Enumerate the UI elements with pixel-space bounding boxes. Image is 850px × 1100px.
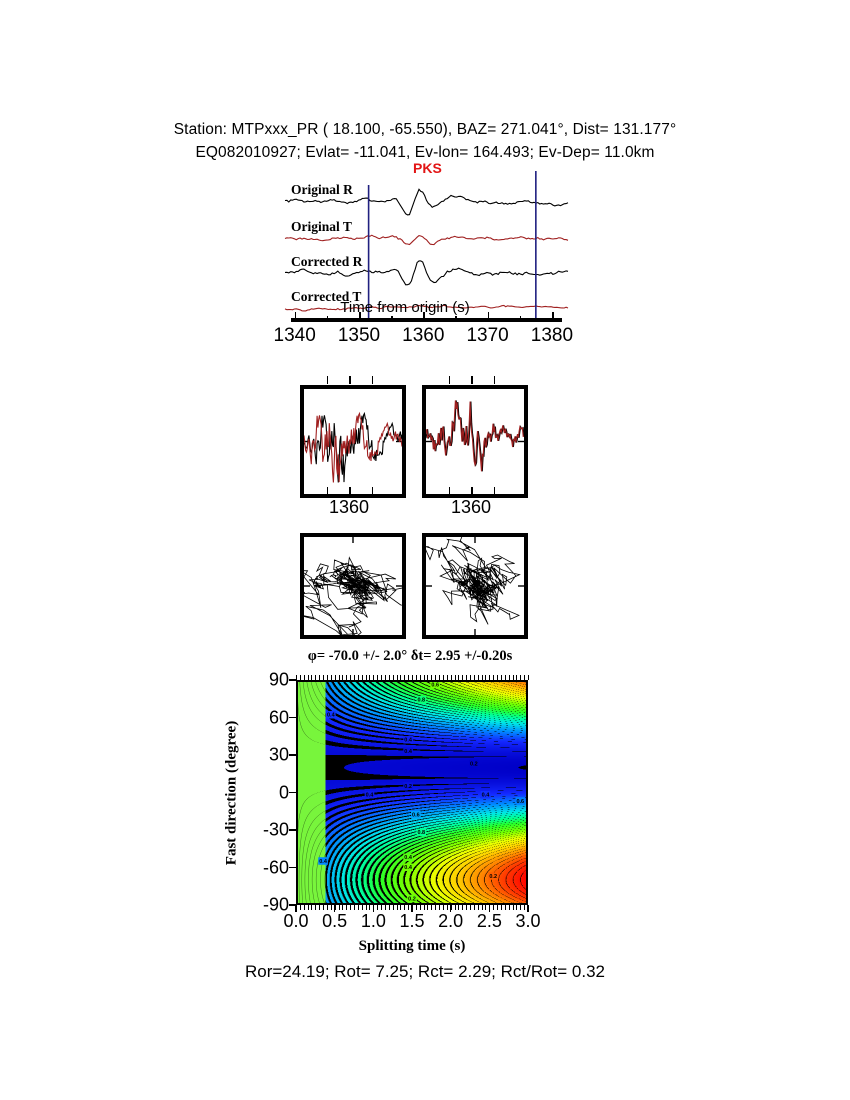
contour-minor-tick [420,675,421,680]
contour-ytick-label: 60 [269,707,289,728]
contour-ytick-label: 0 [279,782,289,803]
contour-minor-tick [501,905,502,910]
time-axis-tick [295,312,297,322]
contour-minor-tick [339,905,340,910]
contour-minor-tick [311,675,312,680]
contour-minor-tick [416,675,417,680]
contour-minor-tick [505,905,506,910]
contour-minor-tick [358,675,359,680]
time-axis-bar [291,318,562,322]
time-axis-title: Time from origin (s) [240,299,570,316]
contour-xtick-label: 2.5 [477,911,502,932]
contour-minor-tick [354,905,355,910]
contour-minor-tick [451,905,452,910]
contour-minor-tick [478,675,479,680]
box-tick [471,376,473,384]
contour-minor-tick [362,675,363,680]
contour-minor-tick [431,905,432,910]
contour-minor-tick [485,905,486,910]
box-tick [494,376,496,384]
station-info-line: Station: MTPxxx_PR ( 18.100, -65.550), B… [0,118,850,141]
contour-minor-tick [520,905,521,910]
contour-minor-tick [397,675,398,680]
contour-minor-tick [404,905,405,910]
contour-ytick [289,754,296,756]
contour-minor-tick [458,905,459,910]
contour-minor-tick [424,905,425,910]
contour-minor-tick [358,905,359,910]
fast-slow-trace-pair-right [426,389,524,494]
contour-minor-tick [397,905,398,910]
contour-minor-tick [412,675,413,680]
contour-minor-tick [327,905,328,910]
contour-xtick-label: 2.0 [438,911,463,932]
contour-ytick-label: -30 [263,820,289,841]
contour-minor-tick [435,675,436,680]
contour-minor-tick [482,905,483,910]
box-tick [449,376,451,384]
contour-minor-tick [462,675,463,680]
contour-minor-tick [366,905,367,910]
contour-minor-tick [493,905,494,910]
time-axis-tick [455,316,457,322]
contour-minor-tick [296,675,297,680]
particle-motion-box-before [300,533,406,639]
box-tick [494,487,496,495]
contour-minor-tick [482,675,483,680]
figure-header: Station: MTPxxx_PR ( 18.100, -65.550), B… [0,118,850,164]
contour-minor-tick [516,675,517,680]
contour-minor-tick [331,905,332,910]
quality-stats-line: Ror=24.19; Rot= 7.25; Rct= 2.29; Rct/Rot… [0,962,850,982]
particle-motion-path [304,558,402,635]
contour-minor-tick [451,675,452,680]
contour-minor-tick [497,905,498,910]
contour-minor-tick [489,905,490,910]
contour-minor-tick [513,905,514,910]
energy-contour-plot: -90-60-3003060900.00.51.01.52.02.53.0 [296,680,528,905]
time-axis-tick [488,312,490,322]
contour-minor-tick [435,905,436,910]
contour-canvas [296,680,528,905]
time-axis-tick [359,312,361,322]
contour-minor-tick [389,905,390,910]
contour-minor-tick [350,675,351,680]
contour-minor-tick [354,675,355,680]
contour-minor-tick [466,675,467,680]
contour-minor-tick [478,905,479,910]
contour-minor-tick [400,675,401,680]
contour-minor-tick [308,905,309,910]
time-axis-tick [327,316,329,322]
contour-xtick-label: 1.0 [361,911,386,932]
contour-minor-tick [427,675,428,680]
contour-minor-tick [377,675,378,680]
contour-yaxis-title: Fast direction (degree) [224,721,241,865]
contour-minor-tick [323,675,324,680]
contour-minor-tick [524,905,525,910]
contour-minor-tick [335,675,336,680]
contour-ytick [289,792,296,794]
contour-minor-tick [304,675,305,680]
contour-ytick-label: 90 [269,670,289,691]
waveform-box-caption-left: 1360 [294,497,404,518]
contour-minor-tick [470,905,471,910]
contour-minor-tick [447,675,448,680]
contour-minor-tick [505,675,506,680]
box-tick [349,487,351,495]
contour-minor-tick [455,675,456,680]
contour-ytick [289,679,296,681]
contour-minor-tick [323,905,324,910]
contour-minor-tick [342,675,343,680]
contour-minor-tick [497,675,498,680]
contour-minor-tick [369,675,370,680]
contour-minor-tick [315,905,316,910]
contour-minor-tick [513,675,514,680]
contour-minor-tick [381,905,382,910]
contour-minor-tick [524,675,525,680]
trace-label: Original T [291,219,352,234]
contour-minor-tick [474,675,475,680]
box-tick [372,376,374,384]
contour-minor-tick [393,675,394,680]
time-axis-tick [423,312,425,322]
box-tick [327,487,329,495]
time-axis-tick [520,316,522,322]
time-tick-label: 1350 [338,325,380,347]
contour-ytick [289,829,296,831]
contour-minor-tick [385,905,386,910]
contour-xtick-label: 0.5 [322,911,347,932]
time-axis-tick [552,312,554,322]
contour-minor-tick [319,905,320,910]
particle-motion-path [426,537,520,624]
contour-minor-tick [300,675,301,680]
time-tick-label: 1370 [466,325,508,347]
contour-minor-tick [366,675,367,680]
contour-minor-tick [400,905,401,910]
contour-xaxis-title: Splitting time (s) [296,938,528,955]
contour-minor-tick [447,905,448,910]
contour-minor-tick [493,675,494,680]
contour-minor-tick [296,905,297,910]
box-tick [349,376,351,384]
particle-motion-curve-before [304,537,402,635]
contour-minor-tick [424,675,425,680]
contour-ytick [289,717,296,719]
contour-minor-tick [331,675,332,680]
time-tick-label: 1360 [402,325,444,347]
contour-minor-tick [509,905,510,910]
contour-minor-tick [420,905,421,910]
contour-xtick-label: 3.0 [515,911,540,932]
waveform-box-caption-right: 1360 [416,497,526,518]
contour-minor-tick [443,905,444,910]
contour-minor-tick [373,675,374,680]
contour-xtick-label: 0.0 [283,911,308,932]
contour-minor-tick [308,675,309,680]
contour-minor-tick [393,905,394,910]
contour-xtick-label: 1.5 [399,911,424,932]
contour-minor-tick [427,905,428,910]
box-tick [372,487,374,495]
contour-minor-tick [501,675,502,680]
contour-minor-tick [466,905,467,910]
contour-minor-tick [350,905,351,910]
contour-ytick-label: 30 [269,745,289,766]
contour-minor-tick [528,905,529,910]
contour-minor-tick [516,905,517,910]
contour-minor-tick [389,675,390,680]
fast-slow-trace-pair-left [304,389,402,494]
time-tick-label: 1340 [274,325,316,347]
contour-minor-tick [373,905,374,910]
fast-slow-waveform-box-right [422,385,528,498]
particle-motion-curve-after [426,537,524,635]
contour-plot-title: φ= -70.0 +/- 2.0° δt= 2.95 +/-0.20s [230,648,590,665]
contour-minor-tick [431,675,432,680]
box-tick [327,376,329,384]
contour-minor-tick [311,905,312,910]
contour-minor-tick [404,675,405,680]
contour-minor-tick [439,905,440,910]
contour-minor-tick [327,675,328,680]
contour-minor-tick [346,905,347,910]
contour-minor-tick [520,675,521,680]
contour-minor-tick [528,675,529,680]
time-axis-tick [391,316,393,322]
contour-minor-tick [485,675,486,680]
contour-minor-tick [304,905,305,910]
contour-minor-tick [458,675,459,680]
contour-minor-tick [489,675,490,680]
contour-ytick-label: -60 [263,857,289,878]
contour-minor-tick [509,675,510,680]
trace-label: Original R [291,182,353,197]
contour-minor-tick [416,905,417,910]
contour-minor-tick [300,905,301,910]
trace-label: Corrected R [291,254,363,269]
contour-minor-tick [319,675,320,680]
contour-minor-tick [362,905,363,910]
contour-minor-tick [408,675,409,680]
time-tick-label: 1380 [531,325,573,347]
fast-slow-waveform-box-left [300,385,406,498]
contour-minor-tick [346,675,347,680]
contour-minor-tick [385,675,386,680]
contour-minor-tick [412,905,413,910]
box-tick [471,487,473,495]
contour-minor-tick [339,675,340,680]
contour-minor-tick [455,905,456,910]
contour-minor-tick [470,675,471,680]
pks-phase-label: PKS [413,160,442,176]
contour-minor-tick [443,675,444,680]
contour-ytick [289,867,296,869]
contour-minor-tick [439,675,440,680]
contour-minor-tick [369,905,370,910]
contour-minor-tick [381,675,382,680]
box-tick [449,487,451,495]
contour-minor-tick [315,675,316,680]
contour-minor-tick [342,905,343,910]
contour-minor-tick [335,905,336,910]
contour-minor-tick [377,905,378,910]
contour-minor-tick [408,905,409,910]
contour-minor-tick [474,905,475,910]
particle-motion-box-after [422,533,528,639]
waveform-trace [285,235,568,244]
contour-minor-tick [462,905,463,910]
